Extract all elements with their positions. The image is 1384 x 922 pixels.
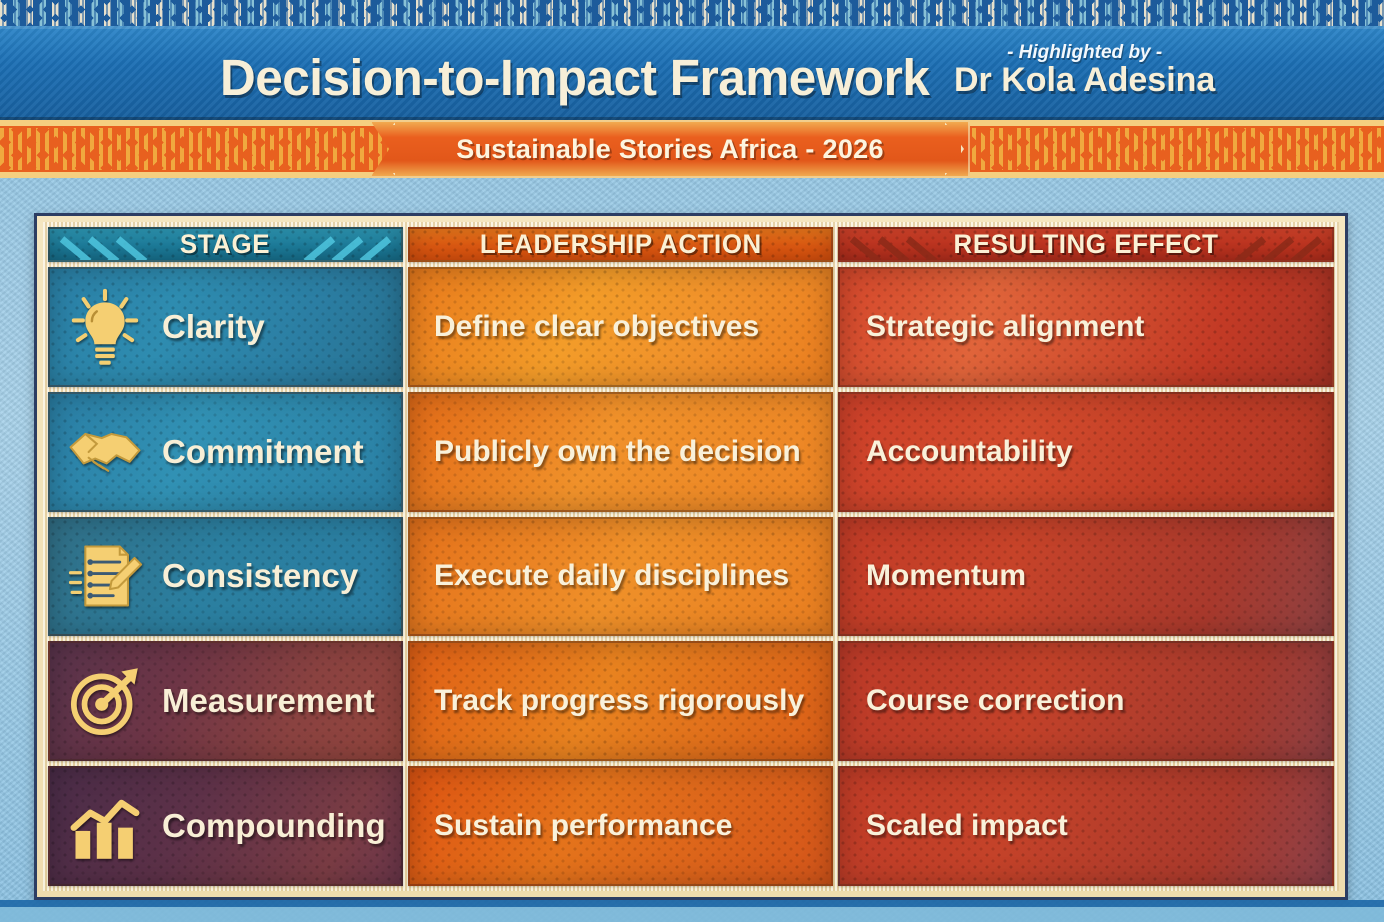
effect-text: Course correction — [866, 684, 1124, 718]
table-row: Compounding Sustain performance — [48, 766, 1334, 886]
action-text: Track progress rigorously — [434, 684, 804, 718]
effect-text: Strategic alignment — [866, 310, 1144, 344]
chevron-stripe-overlay — [0, 0, 1384, 26]
stage-cell-consistency: Consistency — [48, 517, 403, 637]
effect-text: Accountability — [866, 435, 1073, 469]
stage-label: Measurement — [162, 682, 375, 720]
checklist-pen-icon — [64, 535, 146, 617]
action-text: Define clear objectives — [434, 310, 759, 344]
effect-cell-2: Accountability — [838, 392, 1334, 512]
chevron-left-icon — [1206, 229, 1326, 262]
bottom-border — [0, 900, 1384, 922]
table-row: Commitment Publicly own the decision — [48, 392, 1334, 512]
effect-cell-1: Strategic alignment — [838, 267, 1334, 387]
framework-table-inner: STAGE LEADERSHIP A — [43, 222, 1339, 891]
column-header-leadership-action-label: LEADERSHIP ACTION — [479, 229, 761, 260]
table-header-row: STAGE LEADERSHIP A — [48, 227, 1334, 262]
action-cell-2: Publicly own the decision — [408, 392, 833, 512]
column-header-resulting-effect-label: RESULTING EFFECT — [953, 229, 1218, 260]
column-header-resulting-effect: RESULTING EFFECT — [838, 227, 1334, 262]
lightbulb-icon — [64, 286, 146, 368]
column-header-stage-label: STAGE — [180, 229, 270, 260]
stage-label: Clarity — [162, 308, 265, 346]
action-cell-3: Execute daily disciplines — [408, 517, 833, 637]
column-header-stage: STAGE — [48, 227, 403, 262]
effect-cell-5: Scaled impact — [838, 766, 1334, 886]
ribbon-center-plate: Sustainable Stories Africa - 2026 — [370, 120, 970, 178]
stage-cell-measurement: Measurement — [48, 641, 403, 761]
action-text: Execute daily disciplines — [434, 559, 789, 593]
effect-text: Scaled impact — [866, 809, 1068, 843]
byline-block: - Highlighted by - Dr Kola Adesina — [954, 43, 1215, 103]
top-chevron-border — [0, 0, 1384, 26]
infographic-page: Decision-to-Impact Framework - Highlight… — [0, 0, 1384, 922]
action-text: Publicly own the decision — [434, 435, 801, 469]
effect-cell-3: Momentum — [838, 517, 1334, 637]
chevron-right-icon — [846, 229, 966, 262]
chevron-right-icon — [56, 229, 176, 262]
stage-cell-compounding: Compounding — [48, 766, 403, 886]
chevron-left-icon — [275, 229, 395, 262]
table-row: Consistency Execute daily disciplines — [48, 517, 1334, 637]
ribbon-label: Sustainable Stories Africa - 2026 — [456, 134, 884, 165]
stage-label: Compounding — [162, 807, 386, 845]
stage-cell-clarity: Clarity — [48, 267, 403, 387]
effect-cell-4: Course correction — [838, 641, 1334, 761]
framework-table-frame: STAGE LEADERSHIP A — [34, 213, 1348, 900]
action-cell-4: Track progress rigorously — [408, 641, 833, 761]
target-arrow-icon — [64, 660, 146, 742]
handshake-icon — [64, 411, 146, 493]
action-text: Sustain performance — [434, 809, 732, 843]
author-name: Dr Kola Adesina — [954, 63, 1215, 99]
action-cell-1: Define clear objectives — [408, 267, 833, 387]
table-row: Measurement Track progress rigorously — [48, 641, 1334, 761]
title-banner: Decision-to-Impact Framework - Highlight… — [0, 26, 1384, 120]
page-title: Decision-to-Impact Framework — [220, 52, 929, 103]
effect-text: Momentum — [866, 559, 1026, 593]
stage-label: Commitment — [162, 433, 364, 471]
subtitle-ribbon: Sustainable Stories Africa - 2026 — [0, 120, 1384, 178]
stage-cell-commitment: Commitment — [48, 392, 403, 512]
byline-prefix: - Highlighted by - — [954, 43, 1215, 63]
action-cell-5: Sustain performance — [408, 766, 833, 886]
bar-chart-growth-icon — [64, 785, 146, 867]
column-header-leadership-action: LEADERSHIP ACTION — [408, 227, 833, 262]
table-row: Clarity Define clear objectives — [48, 267, 1334, 387]
framework-table: STAGE LEADERSHIP A — [43, 222, 1339, 891]
stage-label: Consistency — [162, 557, 358, 595]
